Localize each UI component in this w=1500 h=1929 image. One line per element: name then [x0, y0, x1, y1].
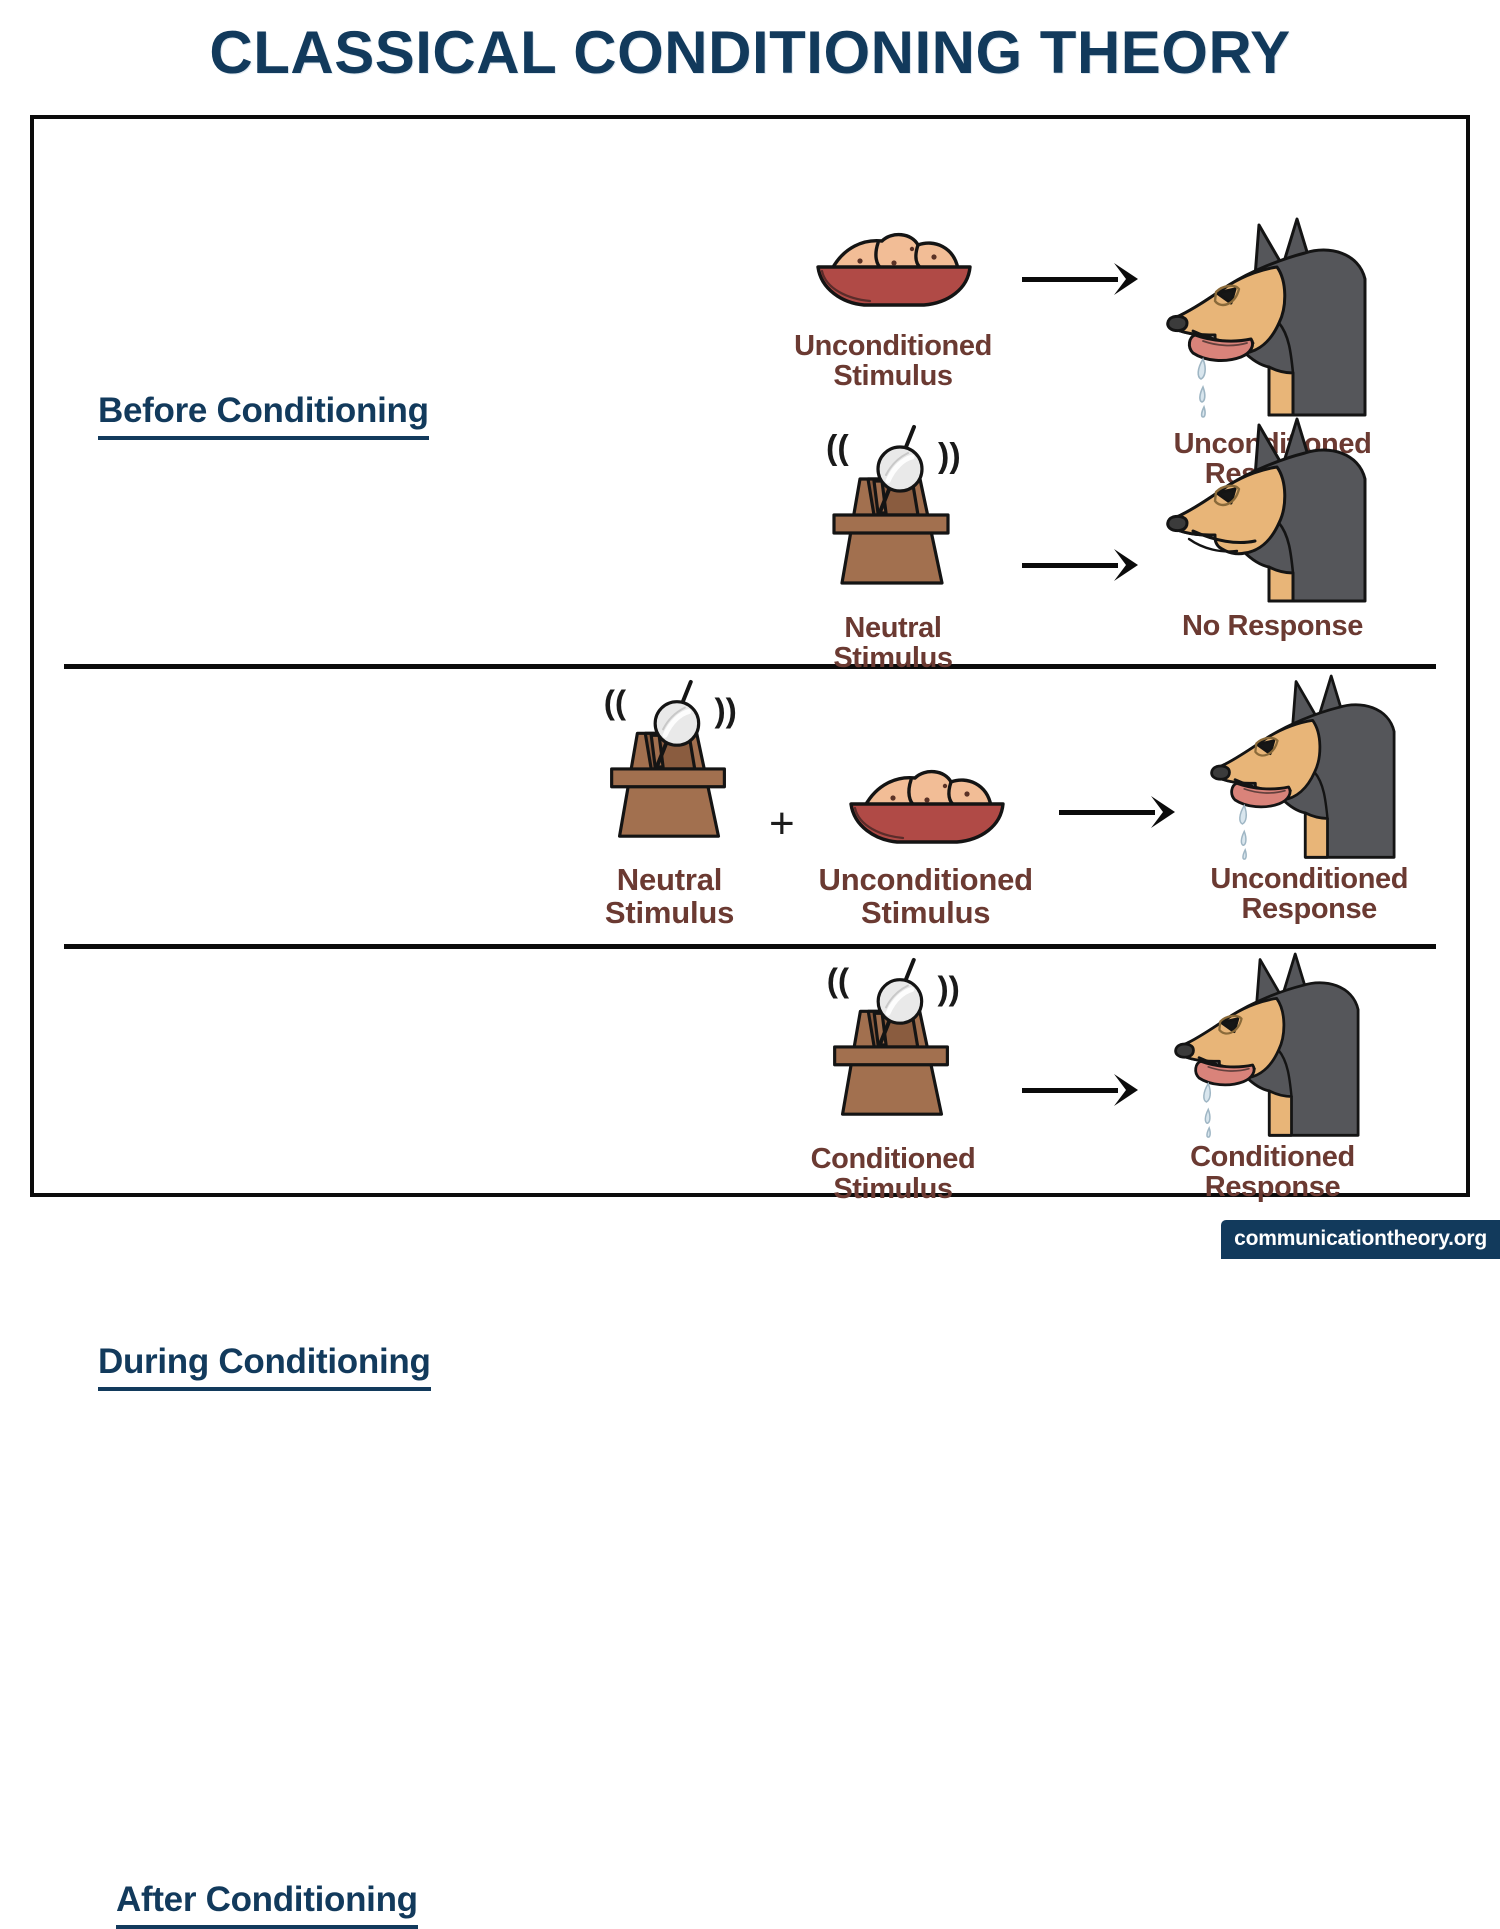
caption-neutral-stimulus: Neutral Stimulus — [833, 613, 952, 674]
cell-neutral-stimulus: (( )) — [582, 676, 757, 929]
caption-unconditioned-response: Unconditioned Response — [1210, 864, 1408, 925]
pair-neutral-plus-food-to-salivation: (( )) — [582, 676, 1432, 929]
caption-unconditioned-stimulus: Unconditioned Stimulus — [794, 331, 992, 392]
sound-mark-right: )) — [938, 970, 960, 1007]
right-arrow-icon — [1022, 1072, 1140, 1106]
dog-salivating-icon — [1159, 954, 1387, 1130]
plus-operator: + — [769, 802, 795, 846]
watermark-badge[interactable]: communicationtheory.org — [1221, 1220, 1500, 1259]
sound-mark-left: (( — [603, 685, 626, 722]
cell-conditioned-response: Conditioned Response — [1150, 954, 1395, 1203]
cell-conditioned-stimulus: (( )) — [774, 954, 1012, 1205]
sound-mark-left: (( — [827, 963, 850, 1000]
food-bowl-icon — [808, 219, 978, 315]
cell-unconditioned-stimulus: Unconditioned Stimulus — [807, 676, 1045, 929]
metronome-bell-icon: (( )) — [808, 954, 978, 1130]
metronome-bell-icon: (( )) — [585, 676, 755, 852]
dog-salivating-icon — [1195, 676, 1423, 852]
dog-neutral-icon — [1159, 419, 1387, 599]
caption-conditioned-stimulus: Conditioned Stimulus — [811, 1144, 976, 1205]
sound-mark-right: )) — [938, 437, 961, 475]
right-arrow-icon — [1022, 547, 1140, 581]
section-after-conditioning: After Conditioning (( )) — [34, 946, 1466, 1197]
stage-label-during-conditioning: During Conditioning — [98, 1342, 431, 1391]
sound-mark-left: (( — [826, 429, 849, 467]
caption-conditioned-response: Conditioned Response — [1190, 1142, 1355, 1203]
right-arrow-icon — [1022, 261, 1140, 295]
pair-neutral-to-no-response: (( )) — [774, 419, 1395, 674]
section-before-conditioning: Before Conditioning — [34, 119, 1466, 666]
stage-label-after-conditioning: After Conditioning — [116, 1880, 418, 1929]
dog-salivating-icon — [1159, 219, 1387, 415]
pair-conditioned-to-response: (( )) — [774, 954, 1395, 1205]
section-during-conditioning: During Conditioning (( )) — [34, 666, 1466, 946]
page-title: CLASSICAL CONDITIONING THEORY — [0, 18, 1500, 87]
caption-unconditioned-stimulus: Unconditioned Stimulus — [819, 864, 1033, 929]
metronome-bell-icon: (( )) — [808, 419, 978, 599]
diagram-frame: Before Conditioning — [30, 115, 1470, 1197]
caption-neutral-stimulus: Neutral Stimulus — [605, 864, 734, 929]
food-bowl-icon — [841, 676, 1011, 852]
cell-no-response: No Response — [1150, 419, 1395, 641]
caption-no-response: No Response — [1182, 611, 1363, 641]
stage-label-before-conditioning: Before Conditioning — [98, 391, 429, 440]
cell-unconditioned-stimulus: Unconditioned Stimulus — [774, 219, 1012, 392]
cell-neutral-stimulus: (( )) — [774, 419, 1012, 674]
right-arrow-icon — [1059, 794, 1177, 828]
sound-mark-right: )) — [714, 692, 736, 729]
cell-unconditioned-response: Unconditioned Response — [1187, 676, 1432, 925]
